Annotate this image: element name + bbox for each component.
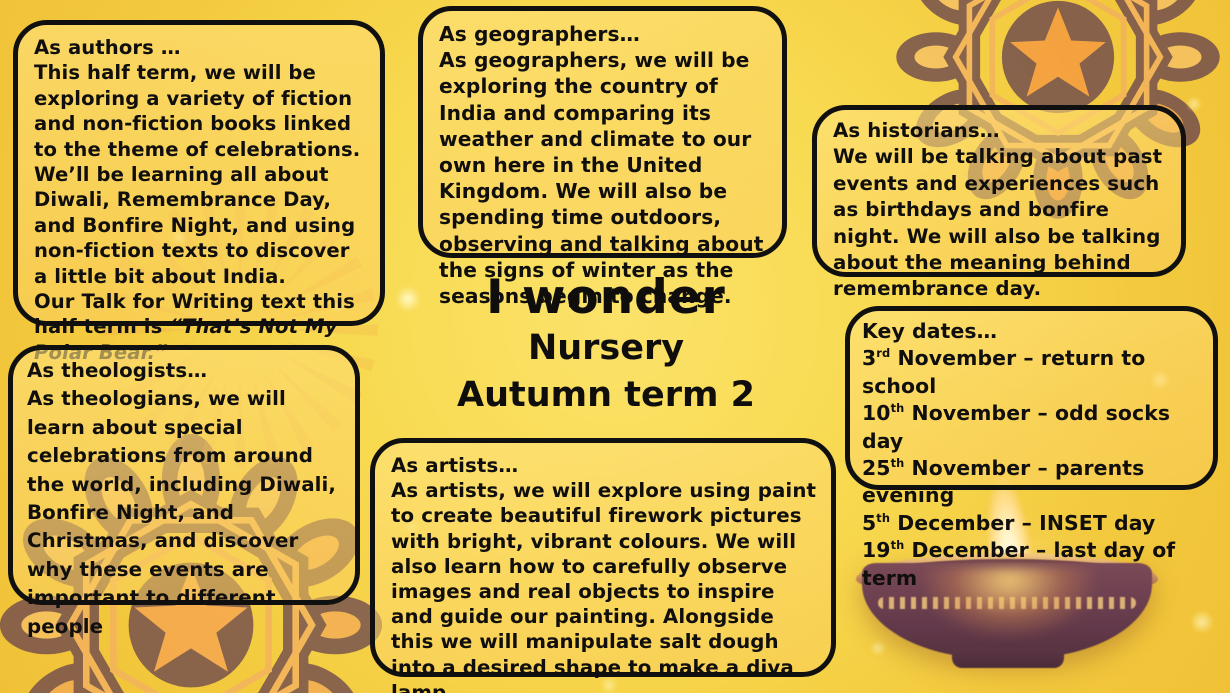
artists-body: As artists, we will explore using paint … (391, 478, 817, 693)
authors-body: This half term, we will be exploring a v… (34, 60, 368, 289)
key-dates-list: 3rd November – return to school 10th Nov… (862, 345, 1203, 592)
key-date-text: November – parents evening (862, 456, 1144, 507)
key-date-text: November – odd socks day (862, 401, 1170, 452)
authors-heading: As authors … (34, 35, 368, 60)
poster-canvas: As authors … This half term, we will be … (0, 0, 1230, 693)
historians-body: We will be talking about past events and… (833, 144, 1167, 302)
sparkle-icon (1190, 610, 1214, 634)
key-date-text: December – INSET day (890, 511, 1155, 535)
theologists-body: As theologians, we will learn about spec… (27, 385, 345, 641)
diya-base (952, 648, 1064, 668)
key-dates-heading: Key dates… (862, 318, 1203, 345)
key-date-ordinal: th (891, 456, 905, 470)
key-date-day: 3 (862, 346, 876, 370)
key-date-ordinal: th (891, 538, 905, 552)
year-group-label: Nursery (420, 325, 792, 372)
key-date-day: 10 (862, 401, 891, 425)
geographers-heading: As geographers… (439, 21, 768, 47)
section-box-theologists: As theologists… As theologians, we will … (8, 345, 360, 605)
key-date-entry: 19th December – last day of term (862, 537, 1203, 592)
diya-beads (878, 597, 1136, 609)
page-title: I wonder (420, 270, 792, 325)
section-box-historians: As historians… We will be talking about … (812, 105, 1186, 277)
key-date-entry: 3rd November – return to school (862, 345, 1203, 400)
key-date-day: 5 (862, 511, 876, 535)
artists-heading: As artists… (391, 453, 817, 478)
key-date-text: November – return to school (862, 346, 1145, 397)
sparkle-icon (395, 286, 421, 312)
section-box-authors: As authors … This half term, we will be … (13, 20, 385, 326)
key-date-text: December – last day of term (862, 538, 1175, 589)
sparkle-icon (870, 640, 886, 656)
key-date-ordinal: th (876, 511, 890, 525)
term-label: Autumn term 2 (420, 372, 792, 419)
historians-heading: As historians… (833, 118, 1167, 144)
key-date-entry: 25th November – parents evening (862, 455, 1203, 510)
section-box-artists: As artists… As artists, we will explore … (370, 438, 836, 677)
key-date-entry: 5th December – INSET day (862, 510, 1203, 537)
sparkle-icon (1186, 96, 1202, 112)
key-date-day: 25 (862, 456, 891, 480)
section-box-geographers: As geographers… As geographers, we will … (418, 6, 787, 258)
key-date-day: 19 (862, 538, 891, 562)
key-date-ordinal: rd (876, 347, 890, 361)
poster-title-block: I wonder Nursery Autumn term 2 (420, 270, 792, 419)
section-box-key-dates: Key dates… 3rd November – return to scho… (845, 306, 1218, 490)
theologists-heading: As theologists… (27, 357, 345, 385)
key-date-ordinal: th (891, 401, 905, 415)
key-date-entry: 10th November – odd socks day (862, 400, 1203, 455)
